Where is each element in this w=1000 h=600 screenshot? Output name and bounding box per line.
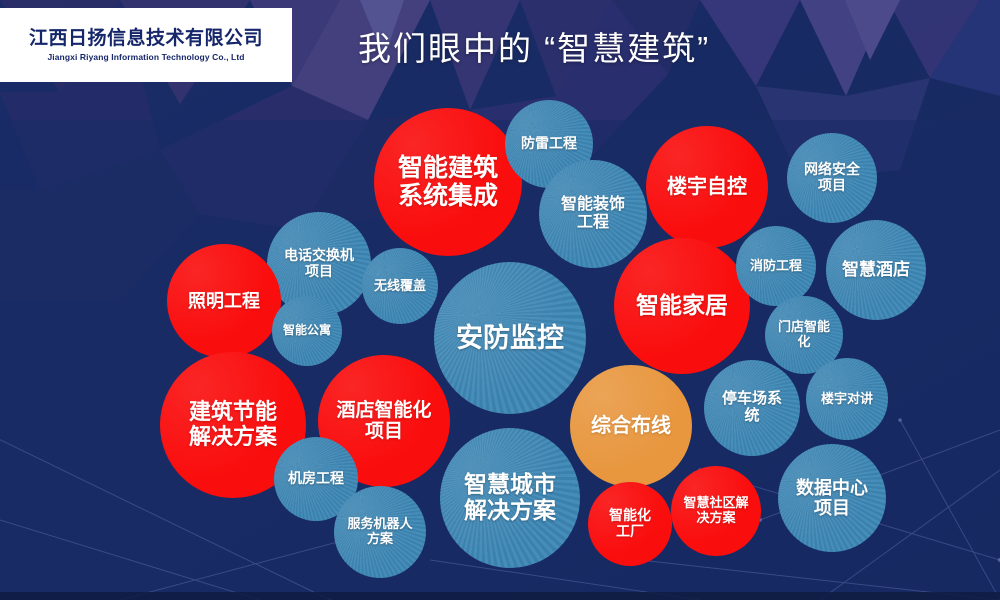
bubble-9[interactable]: 智能公寓 <box>272 296 342 366</box>
bubble-label: 智慧酒店 <box>842 260 910 279</box>
bubble-8[interactable]: 无线覆盖 <box>362 248 438 324</box>
bubble-label: 电话交换机 项目 <box>284 248 354 279</box>
bubble-4[interactable]: 楼宇自控 <box>646 126 768 248</box>
bubble-label: 楼宇对讲 <box>821 392 873 407</box>
bubble-label: 安防监控 <box>456 323 564 353</box>
bubble-23[interactable]: 停车场系 统 <box>704 360 800 456</box>
bubble-label: 网络安全 项目 <box>804 162 860 193</box>
bubble-10[interactable]: 安防监控 <box>434 262 586 414</box>
bubble-20[interactable]: 综合布线 <box>570 365 692 487</box>
bubble-13[interactable]: 智慧酒店 <box>826 220 926 320</box>
bubble-label: 服务机器人 方案 <box>347 517 412 546</box>
slide-canvas: 江西日扬信息技术有限公司 Jiangxi Riyang Information … <box>0 0 1000 600</box>
bubble-label: 消防工程 <box>750 259 802 274</box>
bubble-label: 智能建筑 系统集成 <box>398 154 498 210</box>
bubble-label: 数据中心 项目 <box>796 478 868 518</box>
bubble-3[interactable]: 智能装饰 工程 <box>539 160 647 268</box>
bubble-label: 智能家居 <box>636 293 728 319</box>
bubble-25[interactable]: 数据中心 项目 <box>778 444 886 552</box>
bubble-label: 智慧城市 解决方案 <box>464 472 556 524</box>
bubble-18[interactable]: 服务机器人 方案 <box>334 486 426 578</box>
bubble-label: 酒店智能化 项目 <box>336 400 431 443</box>
bubble-label: 楼宇自控 <box>667 176 747 198</box>
bubble-12[interactable]: 消防工程 <box>736 226 816 306</box>
bubble-5[interactable]: 网络安全 项目 <box>787 133 877 223</box>
bubble-label: 建筑节能 解决方案 <box>189 400 277 449</box>
bubble-label: 门店智能 化 <box>778 320 830 349</box>
bubble-24[interactable]: 楼宇对讲 <box>806 358 888 440</box>
bubble-label: 智能装饰 工程 <box>561 196 625 232</box>
bubble-label: 智能公寓 <box>283 324 331 337</box>
bubble-11[interactable]: 智能家居 <box>614 238 750 374</box>
bubble-22[interactable]: 智慧社区解 决方案 <box>671 466 761 556</box>
bubble-label: 综合布线 <box>591 415 671 437</box>
bubble-label: 智能化 工厂 <box>609 508 651 539</box>
bubble-21[interactable]: 智能化 工厂 <box>588 482 672 566</box>
bubble-label: 停车场系 统 <box>722 391 782 425</box>
bubble-label: 照明工程 <box>188 291 260 311</box>
bubble-7[interactable]: 照明工程 <box>167 244 281 358</box>
bubble-label: 无线覆盖 <box>374 279 426 294</box>
bubble-label: 防雷工程 <box>521 136 577 152</box>
bubble-cloud: 智能建筑 系统集成防雷工程智能装饰 工程楼宇自控网络安全 项目电话交换机 项目照… <box>0 0 1000 600</box>
bubble-label: 机房工程 <box>288 471 344 487</box>
bubble-1[interactable]: 智能建筑 系统集成 <box>374 108 522 256</box>
bubble-19[interactable]: 智慧城市 解决方案 <box>440 428 580 568</box>
bubble-label: 智慧社区解 决方案 <box>683 496 748 525</box>
